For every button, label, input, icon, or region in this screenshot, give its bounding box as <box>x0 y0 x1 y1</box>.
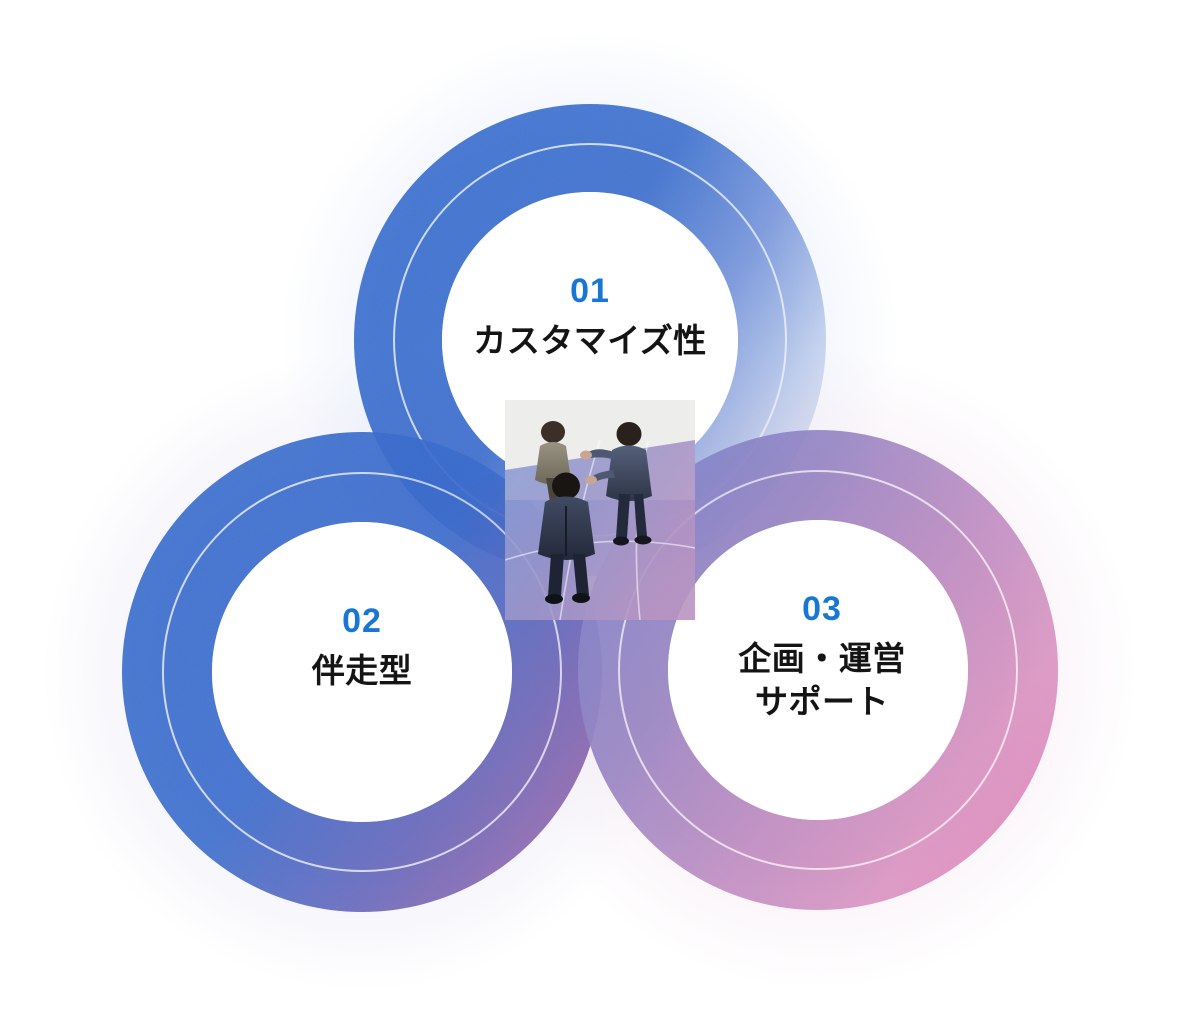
inner-disc-03 <box>668 520 968 820</box>
three-ring-venn-graphic <box>0 0 1178 1012</box>
inner-disc-02 <box>212 522 512 822</box>
center-photo <box>505 400 695 620</box>
diagram-canvas: 01 カスタマイズ性 02 伴走型 03 企画・運営 サポート <box>0 0 1178 1012</box>
